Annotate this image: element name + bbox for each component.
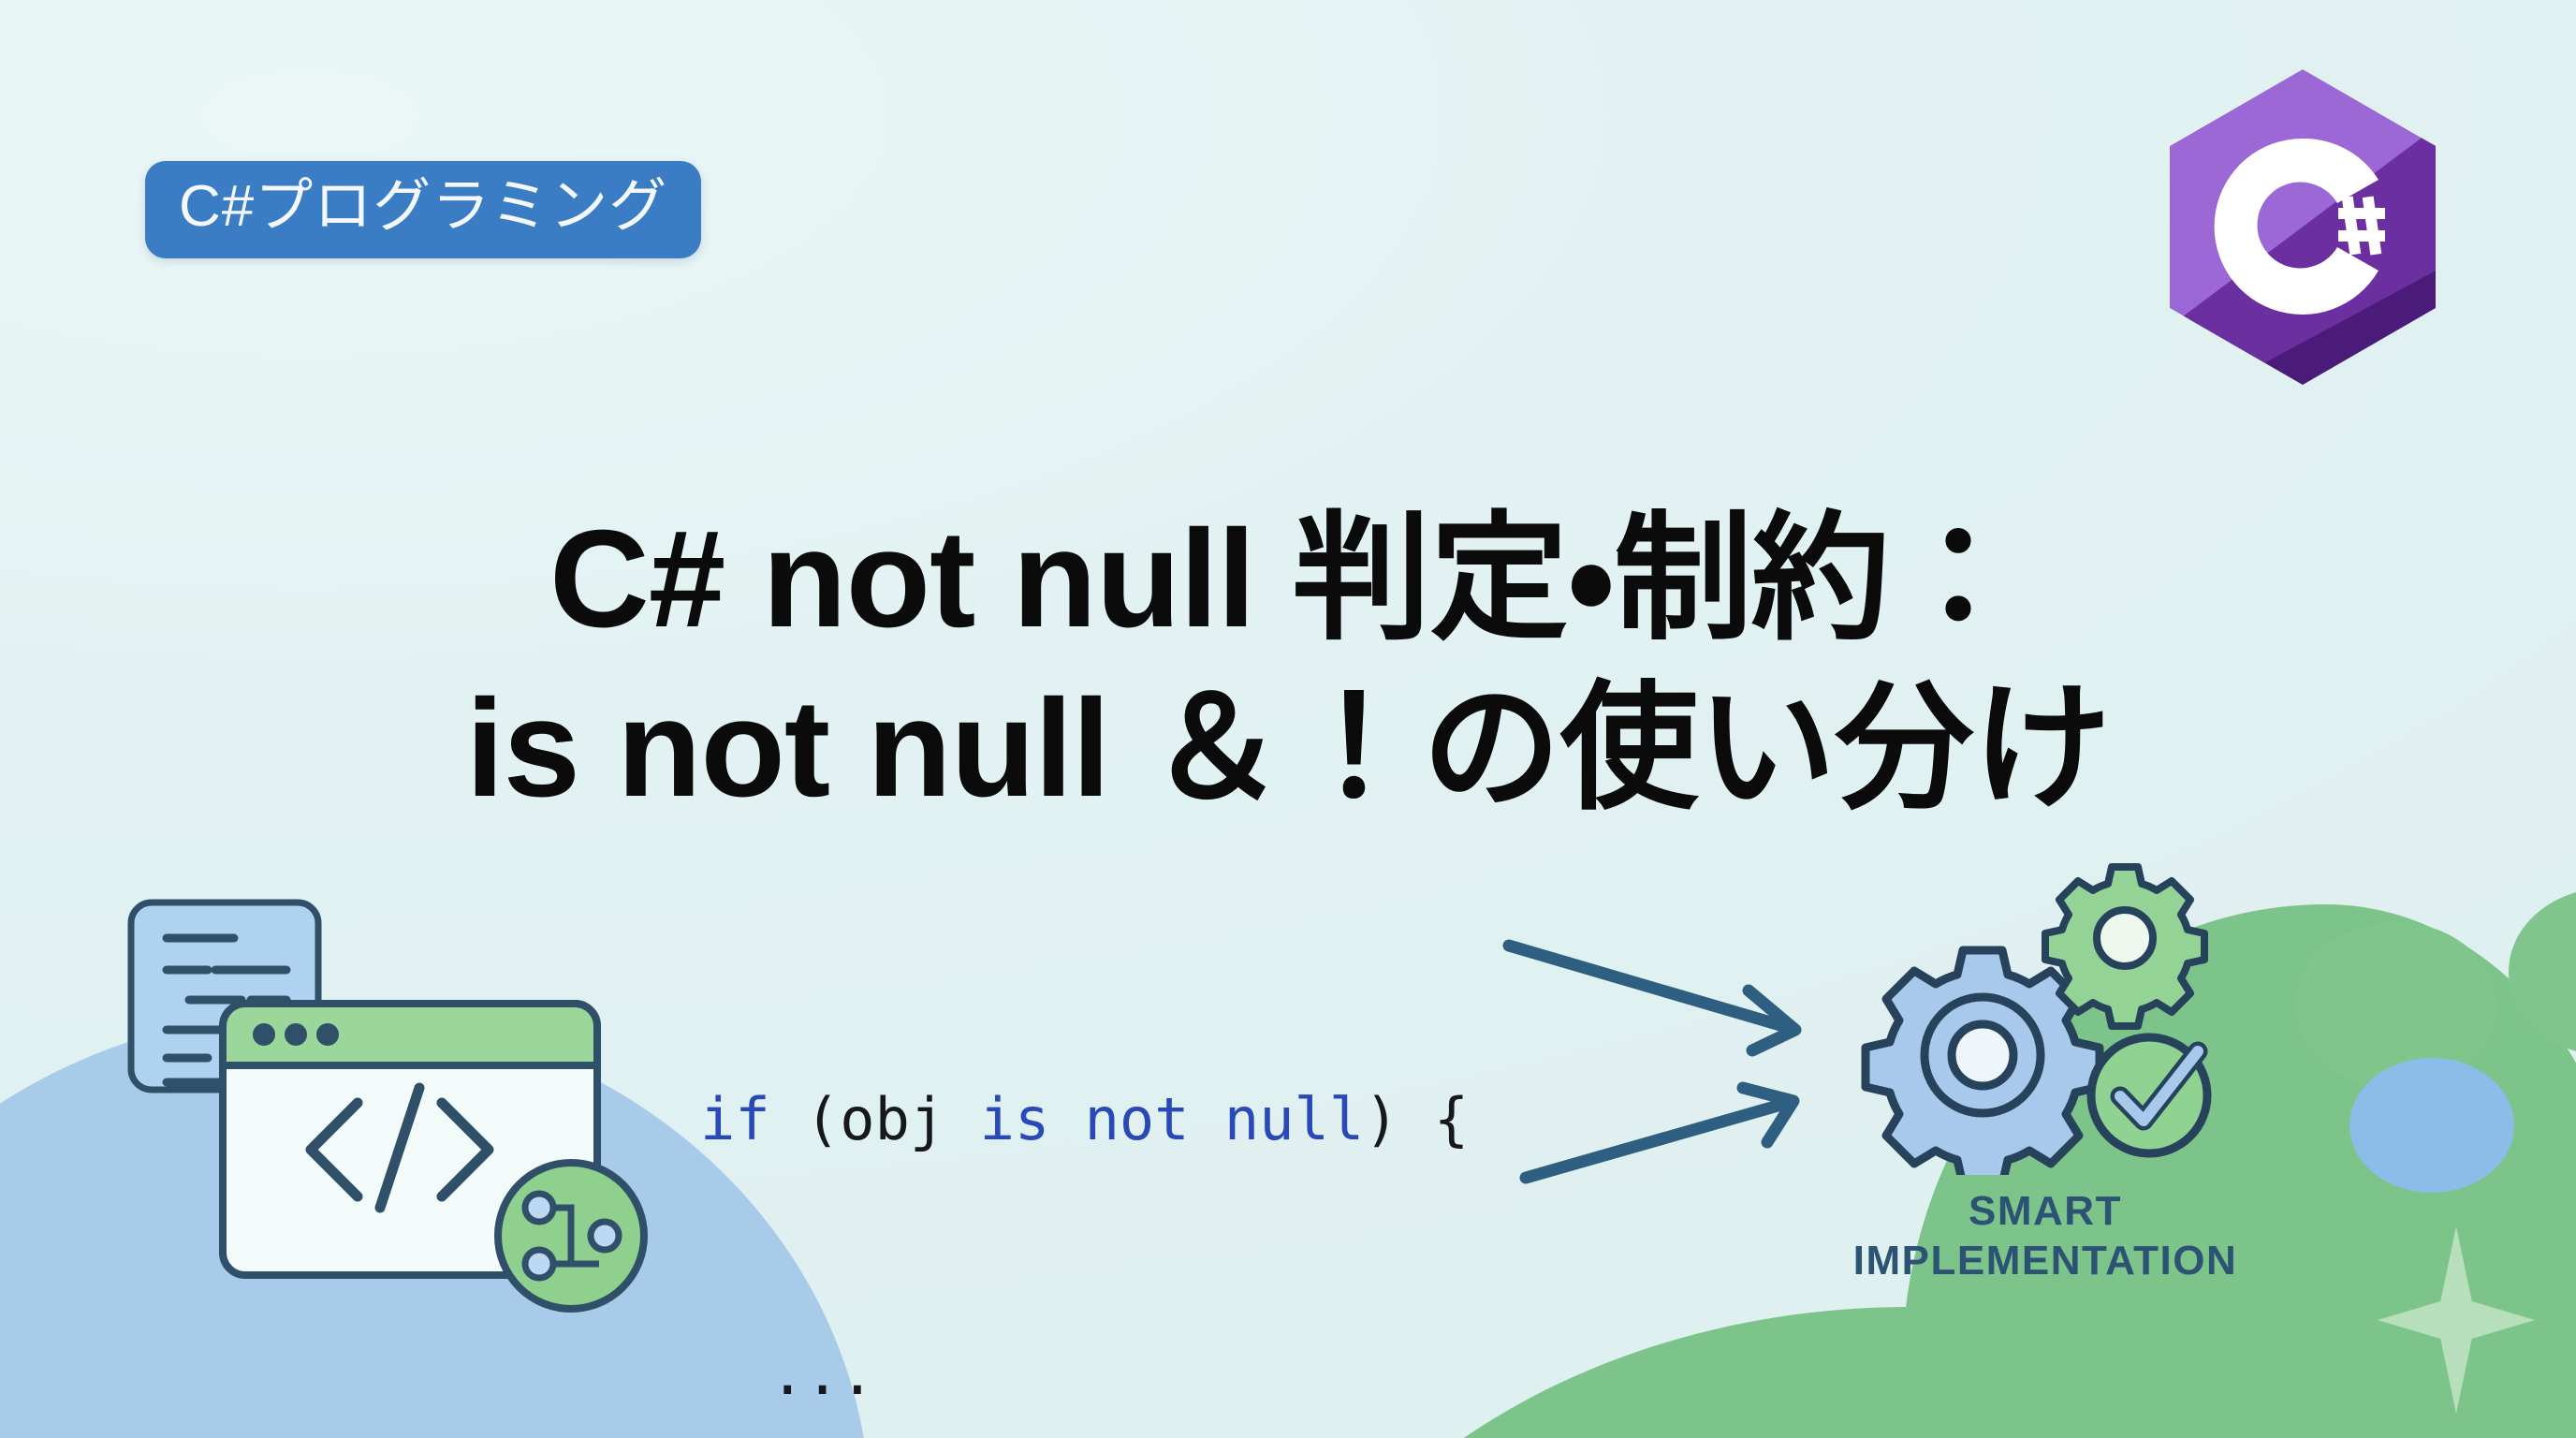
code-keyword-if: if xyxy=(700,1085,770,1153)
code-text: ) { xyxy=(1364,1085,1469,1153)
code-snippet: if (obj is not null) { ... } string name… xyxy=(700,908,1573,1438)
category-badge[interactable]: C#プログラミング xyxy=(145,161,701,258)
csharp-logo xyxy=(2162,66,2443,389)
title-line-2: is not null ＆！の使い分け xyxy=(131,665,2445,834)
node-branch-badge xyxy=(498,1163,644,1309)
gear-cluster xyxy=(1816,847,2275,1175)
smart-implementation-caption: SMART IMPLEMENTATION xyxy=(1760,1187,2331,1286)
code-text: (obj xyxy=(770,1085,980,1153)
background-dot-blue xyxy=(2349,1058,2514,1193)
caption-line-2: IMPLEMENTATION xyxy=(1760,1237,2331,1286)
code-line-2: ... xyxy=(700,1332,1573,1417)
sparkle-icon xyxy=(2378,1226,2535,1414)
code-window-illustration xyxy=(103,880,683,1320)
background-dot-green-1 xyxy=(2295,922,2496,1089)
gear-small-icon xyxy=(2045,867,2204,1026)
check-circle-icon xyxy=(2091,1037,2207,1153)
page-title: C# not null 判定・制約： is not null ＆！の使い分け xyxy=(0,495,2576,833)
thumbnail-canvas: C#プログラミング C# not null 判定・制約： xyxy=(0,0,2576,1438)
title-line-1: C# not null 判定・制約： xyxy=(131,495,2445,665)
window-dots xyxy=(253,1023,339,1046)
code-line-1: if (obj is not null) { xyxy=(700,1078,1573,1163)
arrow-bottom-shaft xyxy=(1526,1103,1788,1178)
caption-line-1: SMART xyxy=(1760,1187,2331,1237)
code-keyword-is-not-null: is not null xyxy=(980,1085,1365,1153)
background-dot-green-2 xyxy=(2509,888,2576,1056)
